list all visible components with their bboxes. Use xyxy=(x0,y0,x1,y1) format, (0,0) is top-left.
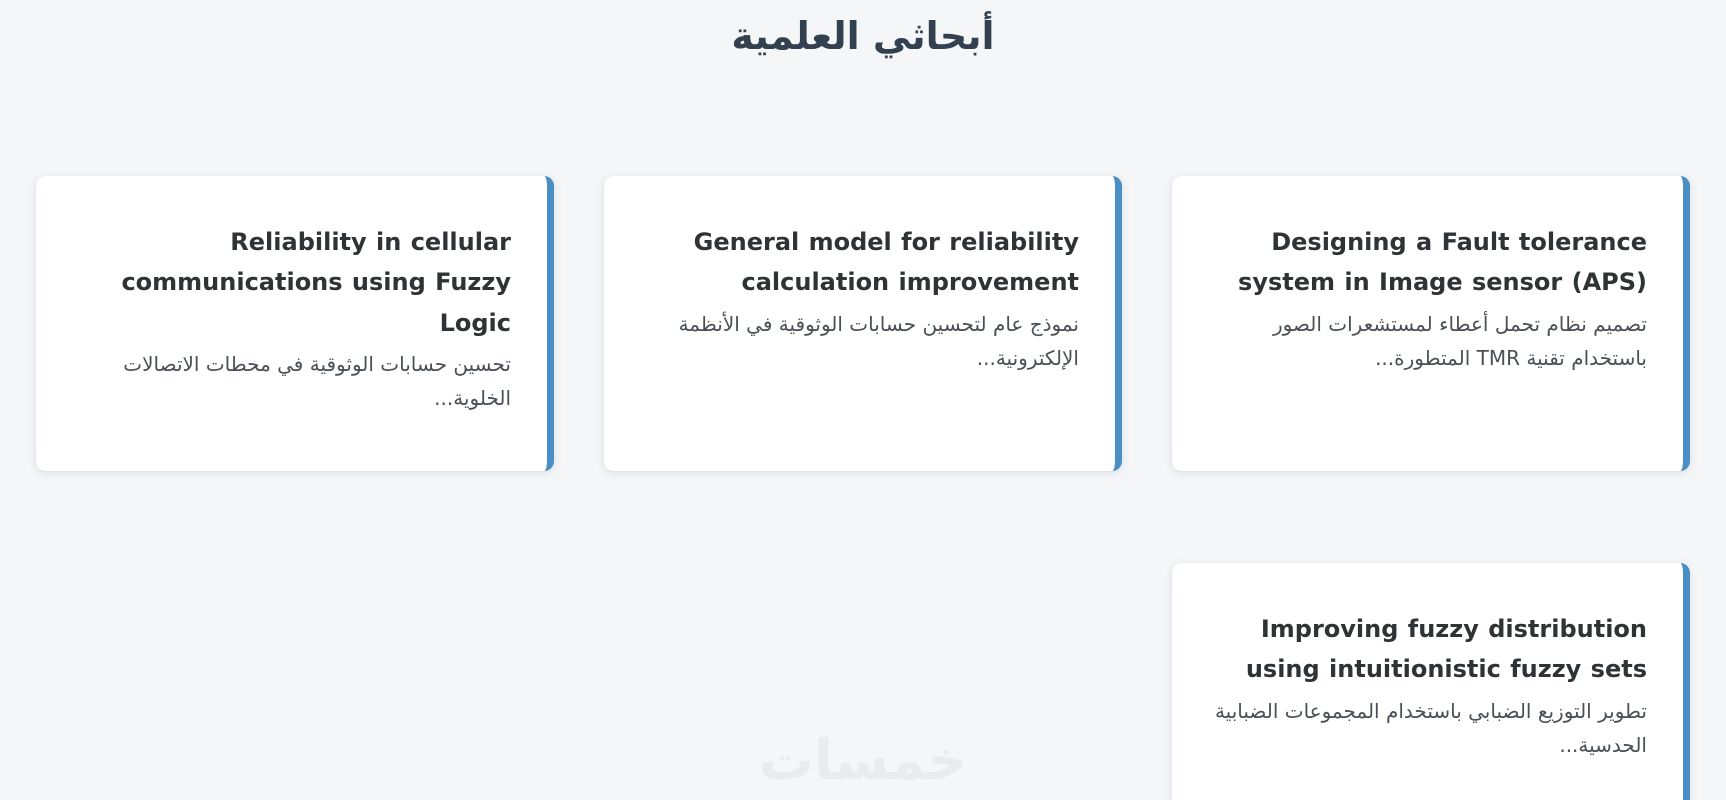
research-page: أبحاثي العلمية Reliability in cellular c… xyxy=(0,0,1726,800)
page-title: أبحاثي العلمية xyxy=(0,12,1726,61)
research-card-description: نموذج عام لتحسين حسابات الوثوقية في الأن… xyxy=(640,307,1079,376)
research-card-title: Designing a Fault tolerance system in Im… xyxy=(1208,222,1647,303)
research-cards-grid: Reliability in cellular communications u… xyxy=(36,176,1690,800)
research-card[interactable]: Reliability in cellular communications u… xyxy=(36,176,554,471)
research-card-title: Reliability in cellular communications u… xyxy=(72,222,511,343)
research-card[interactable]: General model for reliability calculatio… xyxy=(604,176,1122,471)
research-card-title: Improving fuzzy distribution using intui… xyxy=(1208,609,1647,690)
research-card-description: تحسين حسابات الوثوقية في محطات الاتصالات… xyxy=(72,347,511,416)
research-card-description: تصميم نظام تحمل أعطاء لمستشعرات الصور با… xyxy=(1208,307,1647,376)
research-card[interactable]: Designing a Fault tolerance system in Im… xyxy=(1172,176,1690,471)
site-watermark: خمسات xyxy=(0,728,1726,792)
research-card-title: General model for reliability calculatio… xyxy=(640,222,1079,303)
